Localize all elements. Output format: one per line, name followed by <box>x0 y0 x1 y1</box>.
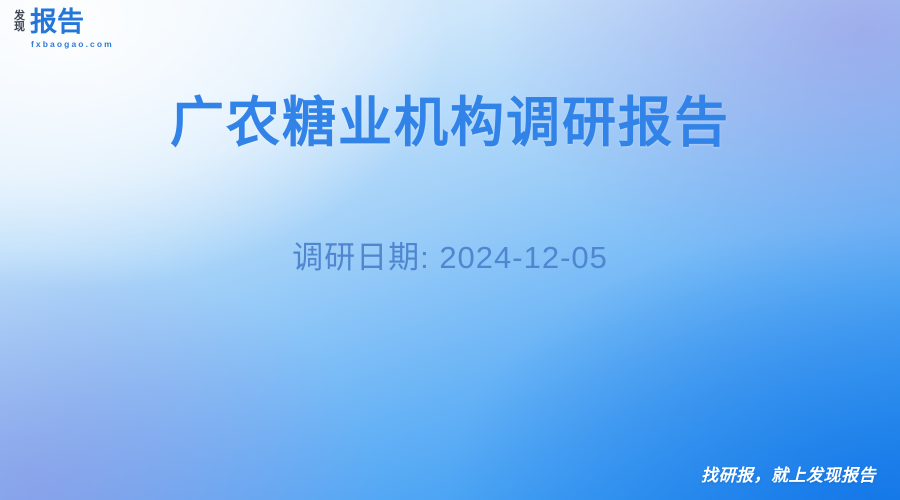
report-cover-slide: 发 现 报告 fxbaogao.com 广农糖业机构调研报告 调研日期: 202… <box>0 0 900 500</box>
logo-domain-text: fxbaogao.com <box>31 39 114 49</box>
footer-tagline: 找研报，就上发现报告 <box>701 461 876 486</box>
brand-logo[interactable]: 发 现 报告 fxbaogao.com <box>14 9 114 49</box>
title-block: 广农糖业机构调研报告 <box>0 92 900 156</box>
logo-char-xian: 现 <box>14 22 25 33</box>
logo-stacked-characters: 发 现 <box>14 9 25 33</box>
logo-wordmark-group: 报告 fxbaogao.com <box>30 9 114 49</box>
logo-wordmark: 报告 <box>30 9 114 37</box>
report-title: 广农糖业机构调研报告 <box>0 92 900 156</box>
survey-date-subtitle: 调研日期: 2024-12-05 <box>0 232 900 277</box>
